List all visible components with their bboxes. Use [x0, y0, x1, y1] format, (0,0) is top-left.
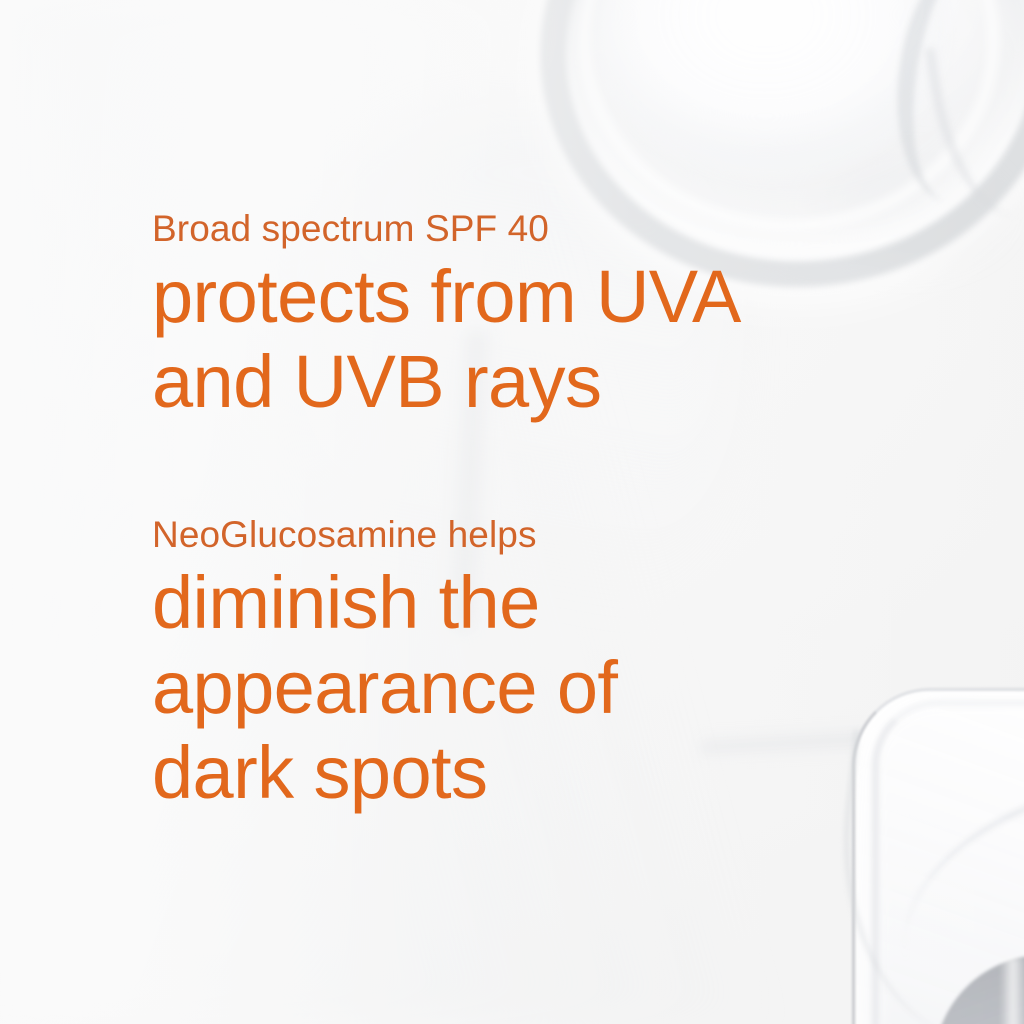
benefit-eyebrow-spf: Broad spectrum SPF 40: [152, 206, 741, 252]
jar-bottom-right-base-highlight: [1000, 958, 1024, 1024]
benefit-headline-spf: protects from UVA and UVB rays: [152, 254, 741, 424]
benefit-headline-dark-spots: diminish the appearance of dark spots: [152, 560, 617, 815]
product-benefit-card: Broad spectrum SPF 40 protects from UVA …: [0, 0, 1024, 1024]
benefit-block-dark-spots: NeoGlucosamine helps diminish the appear…: [152, 512, 617, 815]
benefit-eyebrow-neoglucosamine: NeoGlucosamine helps: [152, 512, 617, 558]
benefit-block-spf: Broad spectrum SPF 40 protects from UVA …: [152, 206, 741, 424]
